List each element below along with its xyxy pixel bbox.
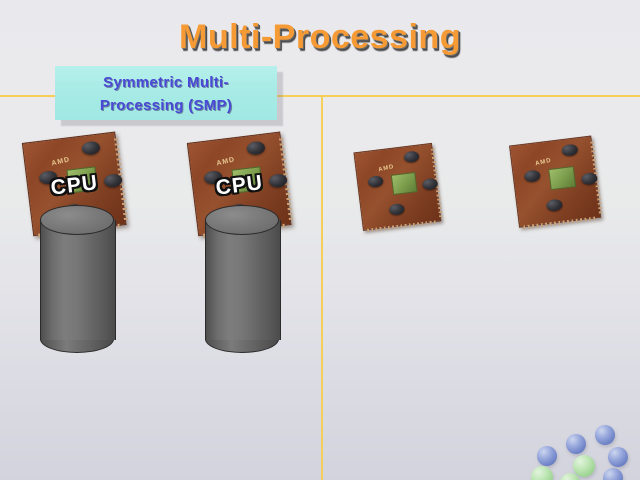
chip-brand-text: AMD — [535, 157, 553, 167]
chip-pad-top-right — [561, 143, 578, 156]
decorative-sphere-6 — [531, 466, 553, 480]
chip-pad-bottom-left — [389, 203, 405, 216]
chip-brand-text: AMD — [378, 164, 395, 173]
smp-callout-box: Symmetric Multi- Processing (SMP) — [55, 66, 277, 120]
chip-substrate: AMD — [353, 143, 441, 231]
cylinder-top — [40, 205, 114, 235]
cpu-chip-3: AMD — [353, 141, 454, 242]
cylinder-body — [205, 220, 281, 340]
smp-callout-line-1: Symmetric Multi- — [65, 71, 267, 94]
decorative-sphere-7 — [603, 468, 623, 480]
chip-pad-top-right — [403, 150, 419, 163]
decorative-sphere-4 — [537, 446, 557, 466]
slide-canvas: Multi-Processing Symmetric Multi- Proces… — [0, 0, 640, 480]
chip-brand-text: AMD — [216, 156, 236, 167]
vertical-accent-rule — [321, 95, 323, 480]
cylinder-top — [205, 205, 279, 235]
decorative-sphere-5 — [573, 455, 595, 477]
cylinder-body — [40, 220, 116, 340]
cpu-chip-4: AMD — [509, 134, 615, 240]
chip-brand-text: AMD — [51, 156, 71, 167]
chip-pad-top-left — [524, 169, 541, 182]
chip-pad-top-right — [246, 141, 265, 156]
page-title: Multi-Processing — [0, 18, 640, 57]
decorative-sphere-1 — [595, 425, 615, 445]
chip-pins-bottom — [367, 220, 437, 232]
decorative-sphere-2 — [566, 434, 586, 454]
decorative-sphere-3 — [608, 447, 628, 467]
chip-pad-bottom-left — [546, 199, 563, 212]
chip-substrate: AMD — [509, 136, 601, 228]
chip-pins-bottom — [523, 216, 597, 229]
chip-die — [548, 166, 576, 190]
smp-callout-line-2: Processing (SMP) — [65, 94, 267, 117]
chip-die — [391, 172, 418, 195]
chip-pad-top-left — [367, 175, 383, 188]
chip-pad-top-right — [81, 141, 100, 156]
